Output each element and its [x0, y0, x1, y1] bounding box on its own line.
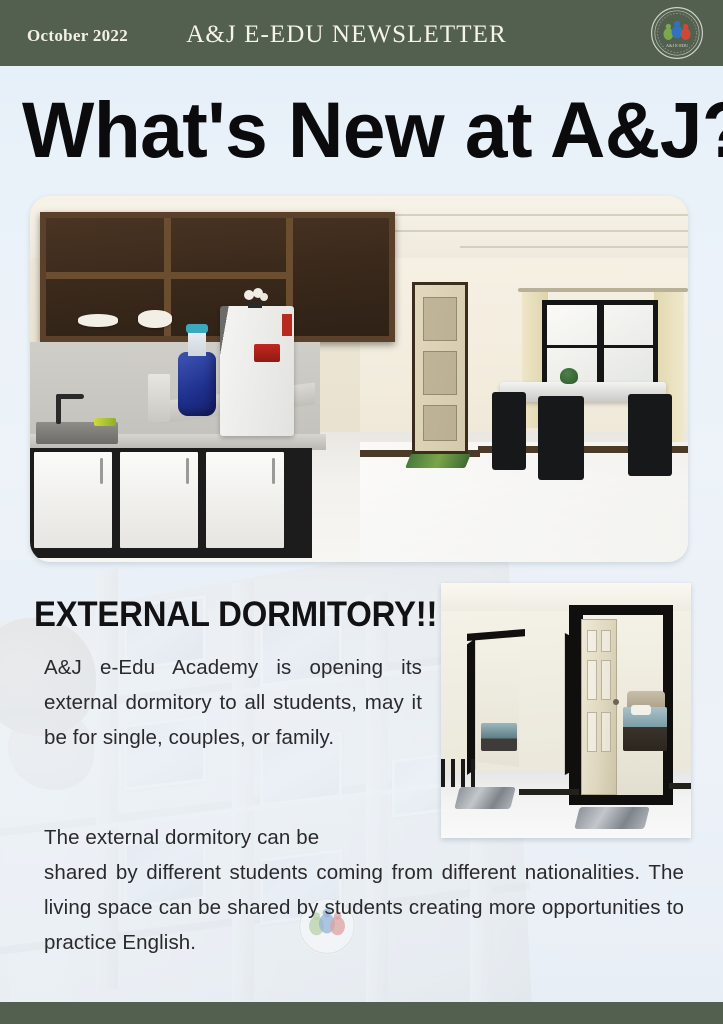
stacked-plates — [78, 314, 118, 327]
dining-chair — [628, 394, 672, 476]
sponge — [94, 418, 116, 426]
faucet — [56, 394, 61, 424]
paragraph-two-lead: The external dormitory can be — [44, 820, 684, 855]
photo-ceiling-line — [460, 246, 688, 248]
dormitory-doorways-photo — [441, 583, 691, 838]
coffee-dispenser — [148, 374, 170, 422]
newsletter-footer — [0, 1002, 723, 1024]
kitchen-dining-photo — [30, 196, 688, 562]
paragraph-two: The external dormitory can be shared by … — [44, 820, 684, 960]
cabinet-handle — [100, 458, 103, 484]
potted-plant-icon — [240, 288, 270, 308]
photo2-baseboard — [519, 789, 579, 795]
photo-ceiling-line — [360, 214, 688, 216]
shoe-rack — [441, 759, 481, 787]
water-bottle-cap — [186, 324, 208, 333]
door-panel — [587, 630, 597, 652]
door-panel — [587, 712, 597, 752]
window-mullion — [547, 345, 653, 348]
refrigerator-tag — [282, 314, 292, 336]
newsletter-header: October 2022 A&J E-EDU NEWSLETTER A&J E-… — [0, 0, 723, 66]
water-bottle — [178, 352, 216, 416]
section-heading: EXTERNAL DORMITORY!! — [34, 596, 437, 634]
door-panel — [601, 712, 611, 752]
newsletter-page: October 2022 A&J E-EDU NEWSLETTER A&J E-… — [0, 0, 723, 1024]
aj-logo-icon: A&J E-EDU — [650, 6, 704, 60]
door-panel — [587, 660, 597, 700]
paragraph-one: A&J e-Edu Academy is opening its externa… — [44, 650, 422, 755]
water-bottle-neck — [188, 330, 206, 356]
lower-cabinet-bank — [30, 448, 312, 558]
photo-ceiling-line — [360, 230, 688, 232]
paragraph-two-body: shared by different students coming from… — [44, 861, 684, 954]
cabinet-handle — [272, 458, 275, 484]
door-panel — [423, 405, 457, 441]
open-bedroom-door — [581, 619, 617, 795]
green-floor-mat — [405, 454, 471, 468]
table-plant — [560, 368, 578, 384]
pillow — [631, 705, 651, 715]
refrigerator-label — [254, 344, 280, 362]
door-knob — [613, 699, 619, 705]
interior-door — [412, 282, 468, 454]
photo2-baseboard — [669, 783, 691, 789]
svg-text:A&J E-EDU: A&J E-EDU — [666, 43, 689, 48]
left-bed — [481, 723, 517, 751]
door-panel — [601, 660, 611, 700]
white-bowl — [138, 310, 172, 328]
floor-mat — [454, 787, 515, 809]
door-panel — [423, 351, 457, 395]
dining-chair — [538, 396, 584, 480]
shelf-divider — [46, 272, 286, 279]
cabinet-handle — [186, 458, 189, 484]
door-panel — [601, 630, 611, 652]
dining-chair — [492, 392, 526, 470]
door-panel — [423, 297, 457, 341]
newsletter-title: A&J E-EDU NEWSLETTER — [0, 21, 723, 49]
page-title: What's New at A&J? — [22, 88, 682, 172]
